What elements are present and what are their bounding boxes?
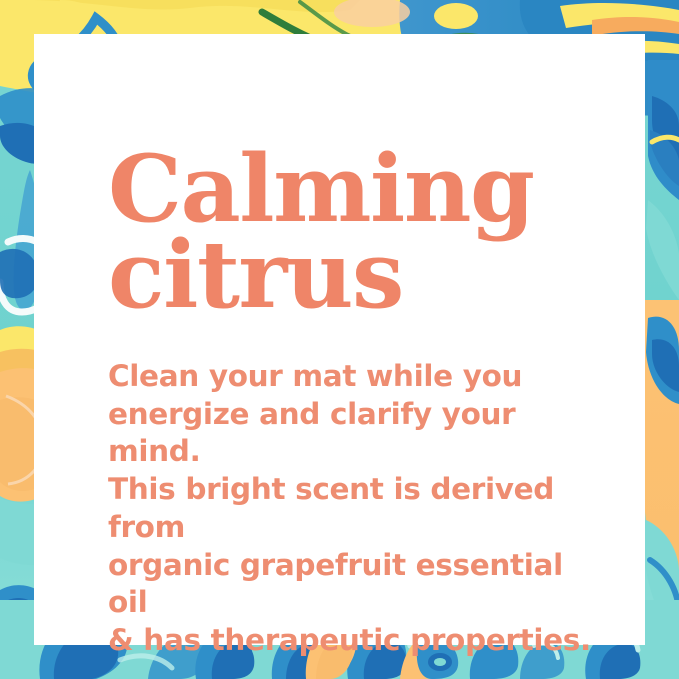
page-title: Calming citrus (108, 146, 609, 319)
product-poster: Calming citrus Clean your mat while you … (0, 0, 679, 679)
card-content: Calming citrus Clean your mat while you … (108, 146, 609, 660)
body-description: Clean your mat while you energize and cl… (108, 319, 609, 660)
white-content-card: Calming citrus Clean your mat while you … (34, 34, 645, 645)
